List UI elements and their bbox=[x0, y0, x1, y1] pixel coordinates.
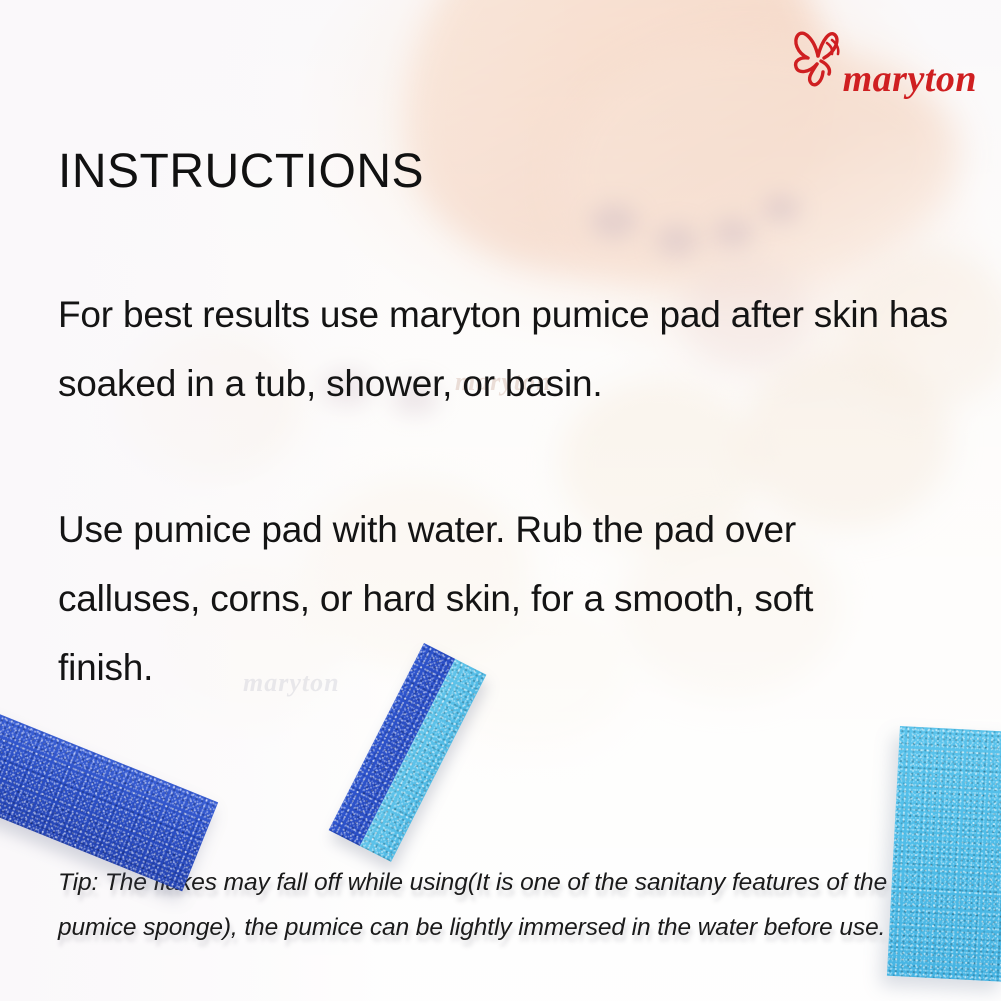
instruction-paragraph-1: For best results use maryton pumice pad … bbox=[58, 280, 988, 418]
instructions-page: maryton maryton maryton INSTRUCTIONS For… bbox=[0, 0, 1001, 1001]
tip-text: Tip: The flakes may fall off while using… bbox=[58, 860, 948, 950]
pumice-sponge-light-blue bbox=[887, 726, 1001, 982]
pad-texture bbox=[887, 726, 1001, 982]
brand-name: maryton bbox=[843, 61, 977, 97]
butterfly-icon bbox=[791, 26, 845, 97]
page-title: INSTRUCTIONS bbox=[58, 144, 424, 199]
brand-logo: maryton bbox=[791, 26, 977, 97]
